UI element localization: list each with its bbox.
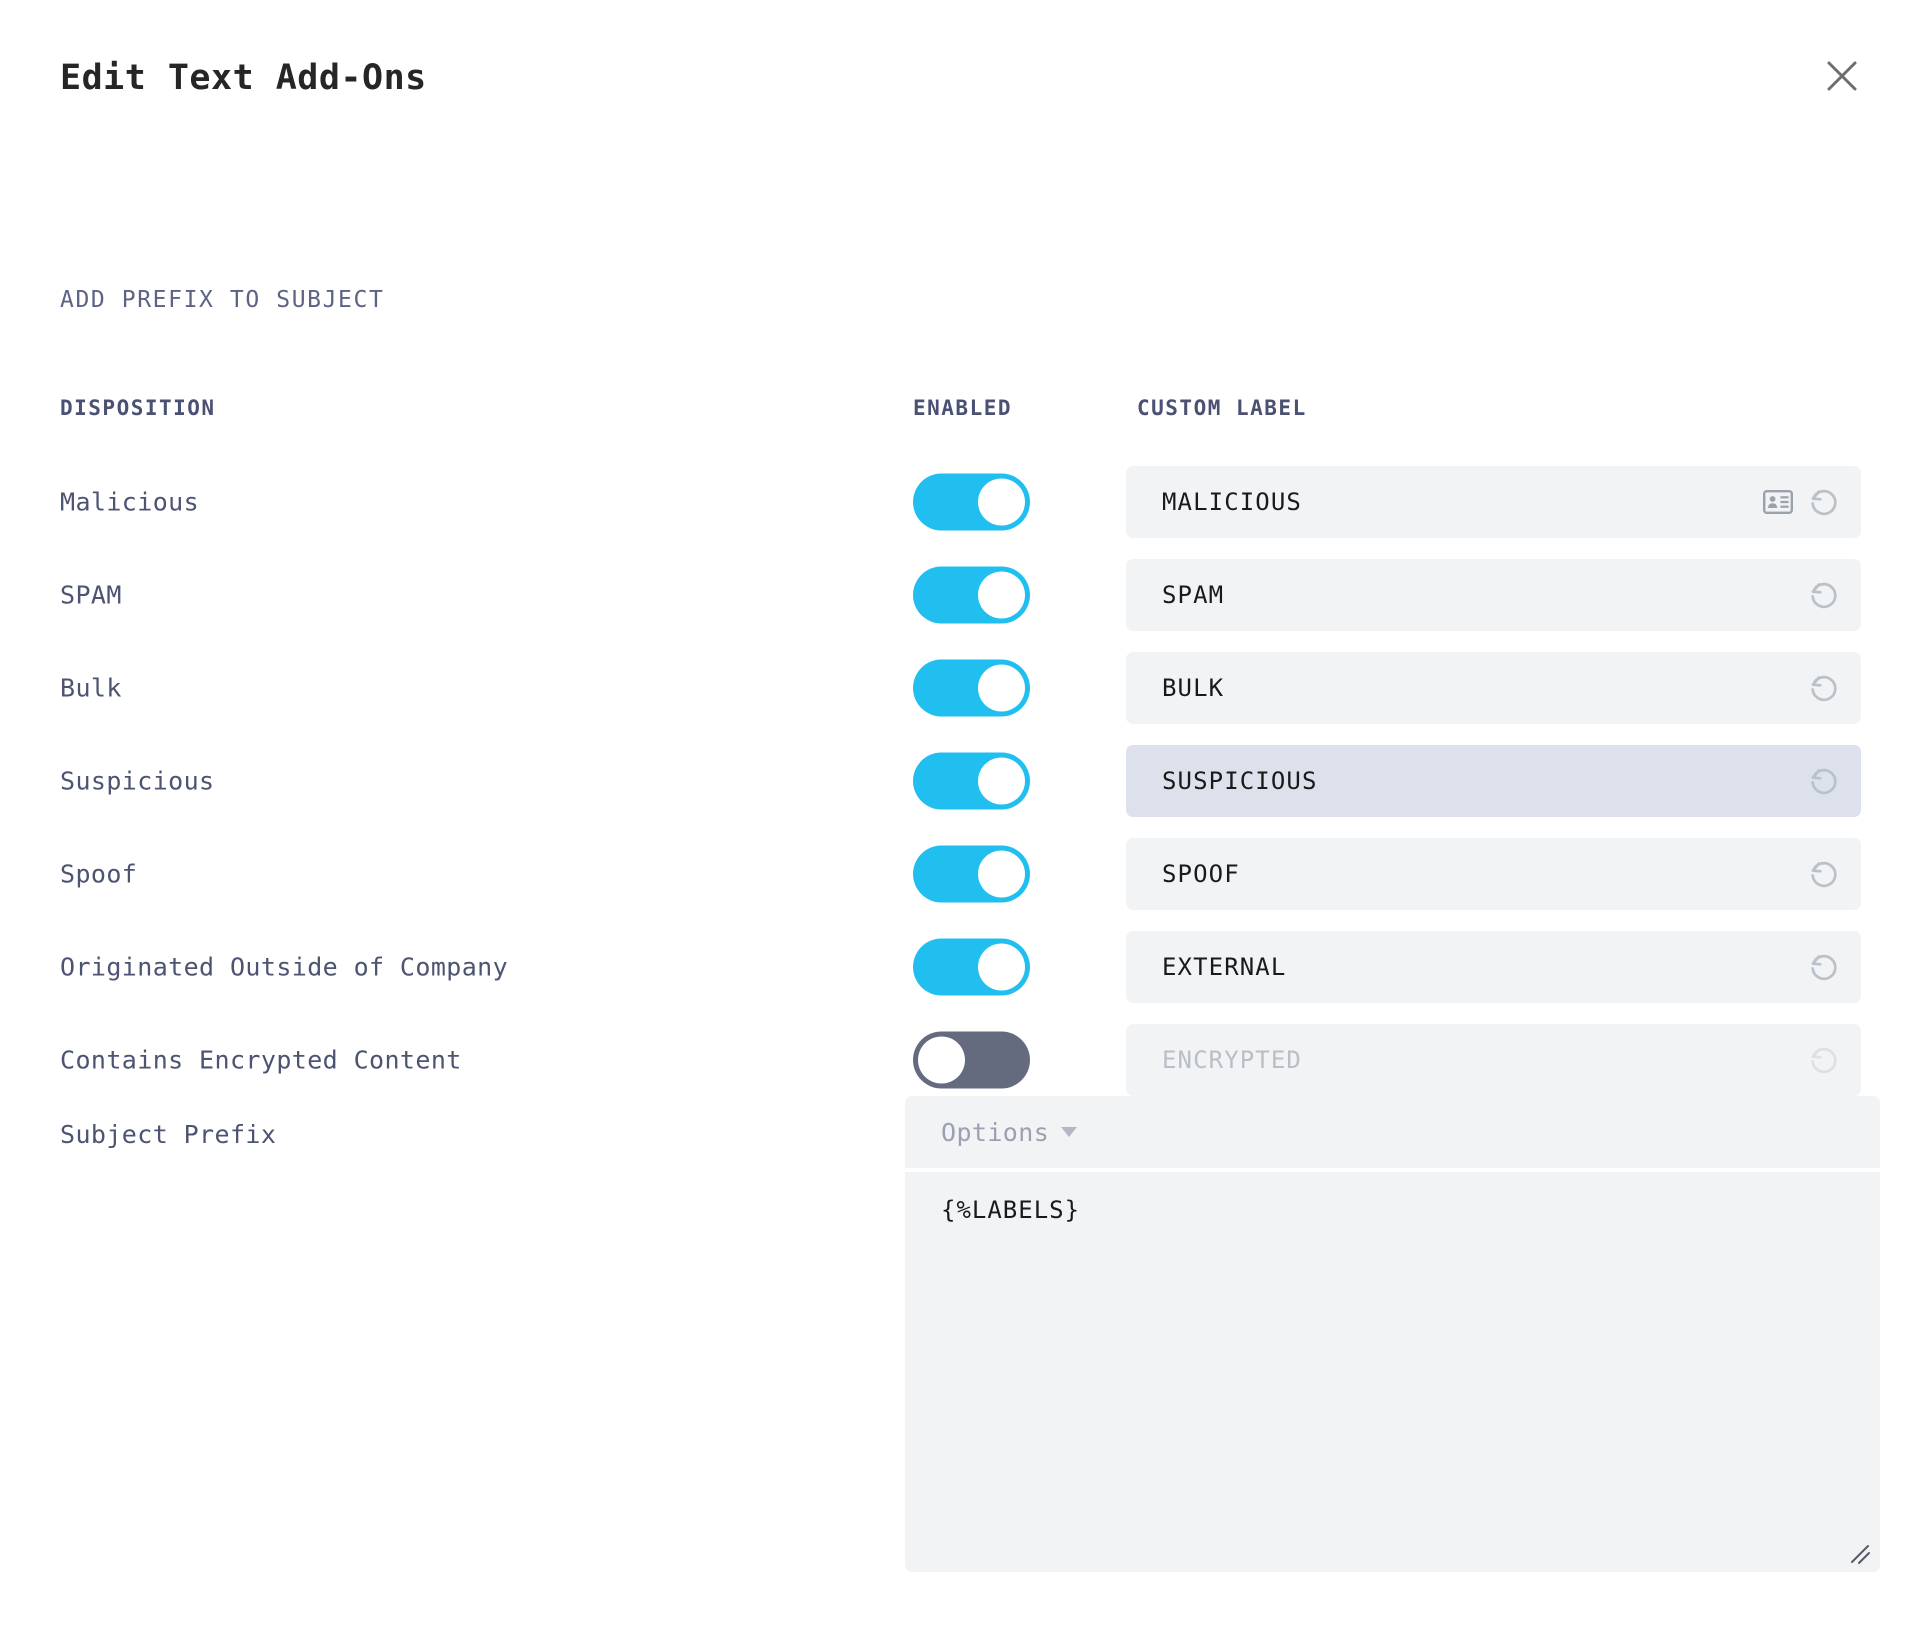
field-icon-group <box>1807 671 1841 705</box>
enabled-toggle[interactable] <box>913 938 1030 995</box>
custom-label-value: ENCRYPTED <box>1162 1046 1791 1074</box>
table-row: Originated Outside of CompanyEXTERNAL <box>0 920 1908 1013</box>
column-header-custom-label: CUSTOM LABEL <box>1137 396 1307 420</box>
editor-toolbar: Options <box>905 1096 1880 1168</box>
close-button[interactable] <box>1806 40 1878 112</box>
table-row: MaliciousMALICIOUS <box>0 455 1908 548</box>
chevron-down-icon <box>1061 1127 1077 1137</box>
subject-prefix-label: Subject Prefix <box>60 1120 276 1149</box>
toggle-knob <box>918 1036 965 1083</box>
toggle-knob <box>978 478 1025 525</box>
custom-label-input[interactable]: SPOOF <box>1126 838 1861 910</box>
column-header-disposition: DISPOSITION <box>60 396 216 420</box>
table-row: SPAMSPAM <box>0 548 1908 641</box>
custom-label-input[interactable]: ENCRYPTED <box>1126 1024 1861 1096</box>
field-icon-group <box>1807 764 1841 798</box>
disposition-label: Bulk <box>60 673 122 702</box>
column-header-enabled: ENABLED <box>913 396 1012 420</box>
disposition-label: Malicious <box>60 487 199 516</box>
reset-icon[interactable] <box>1807 1043 1841 1077</box>
custom-label-input[interactable]: BULK <box>1126 652 1861 724</box>
page-title: Edit Text Add-Ons <box>60 58 427 98</box>
custom-label-input[interactable]: MALICIOUS <box>1126 466 1861 538</box>
field-icon-group <box>1807 578 1841 612</box>
table-row: BulkBULK <box>0 641 1908 734</box>
enabled-toggle[interactable] <box>913 566 1030 623</box>
disposition-label: Suspicious <box>60 766 215 795</box>
edit-text-addons-dialog: Edit Text Add-Ons ADD PREFIX TO SUBJECT … <box>0 0 1908 1650</box>
section-heading: ADD PREFIX TO SUBJECT <box>60 287 384 313</box>
options-dropdown-label: Options <box>941 1118 1049 1147</box>
custom-label-value: SPOOF <box>1162 860 1791 888</box>
resize-grip-icon[interactable] <box>1846 1540 1872 1566</box>
custom-label-input[interactable]: SPAM <box>1126 559 1861 631</box>
enabled-toggle[interactable] <box>913 473 1030 530</box>
custom-label-input[interactable]: SUSPICIOUS <box>1126 745 1861 817</box>
disposition-label: Originated Outside of Company <box>60 952 508 981</box>
subject-prefix-editor[interactable]: {%LABELS} <box>905 1172 1880 1572</box>
custom-label-value: SPAM <box>1162 581 1791 609</box>
disposition-rows: MaliciousMALICIOUSSPAMSPAMBulkBULKSuspic… <box>0 455 1908 1106</box>
field-icon-group <box>1807 857 1841 891</box>
disposition-label: SPAM <box>60 580 122 609</box>
custom-label-input[interactable]: EXTERNAL <box>1126 931 1861 1003</box>
reset-icon[interactable] <box>1807 485 1841 519</box>
disposition-label: Spoof <box>60 859 137 888</box>
enabled-toggle[interactable] <box>913 659 1030 716</box>
enabled-toggle[interactable] <box>913 845 1030 902</box>
custom-label-value: SUSPICIOUS <box>1162 767 1791 795</box>
toggle-knob <box>978 757 1025 804</box>
table-row: Contains Encrypted ContentENCRYPTED <box>0 1013 1908 1106</box>
table-row: SpoofSPOOF <box>0 827 1908 920</box>
field-icon-group <box>1763 485 1841 519</box>
custom-label-value: BULK <box>1162 674 1791 702</box>
toggle-knob <box>978 664 1025 711</box>
contact-card-icon[interactable] <box>1763 490 1793 514</box>
toggle-knob <box>978 943 1025 990</box>
toggle-knob <box>978 850 1025 897</box>
enabled-toggle[interactable] <box>913 1031 1030 1088</box>
reset-icon[interactable] <box>1807 671 1841 705</box>
disposition-label: Contains Encrypted Content <box>60 1045 462 1074</box>
reset-icon[interactable] <box>1807 857 1841 891</box>
enabled-toggle[interactable] <box>913 752 1030 809</box>
custom-label-value: MALICIOUS <box>1162 488 1747 516</box>
custom-label-value: EXTERNAL <box>1162 953 1791 981</box>
field-icon-group <box>1807 1043 1841 1077</box>
close-icon <box>1825 59 1859 93</box>
reset-icon[interactable] <box>1807 578 1841 612</box>
subject-prefix-editor-value: {%LABELS} <box>941 1196 1844 1224</box>
options-dropdown[interactable]: Options <box>941 1118 1077 1147</box>
reset-icon[interactable] <box>1807 764 1841 798</box>
table-row: SuspiciousSUSPICIOUS <box>0 734 1908 827</box>
reset-icon[interactable] <box>1807 950 1841 984</box>
toggle-knob <box>978 571 1025 618</box>
field-icon-group <box>1807 950 1841 984</box>
